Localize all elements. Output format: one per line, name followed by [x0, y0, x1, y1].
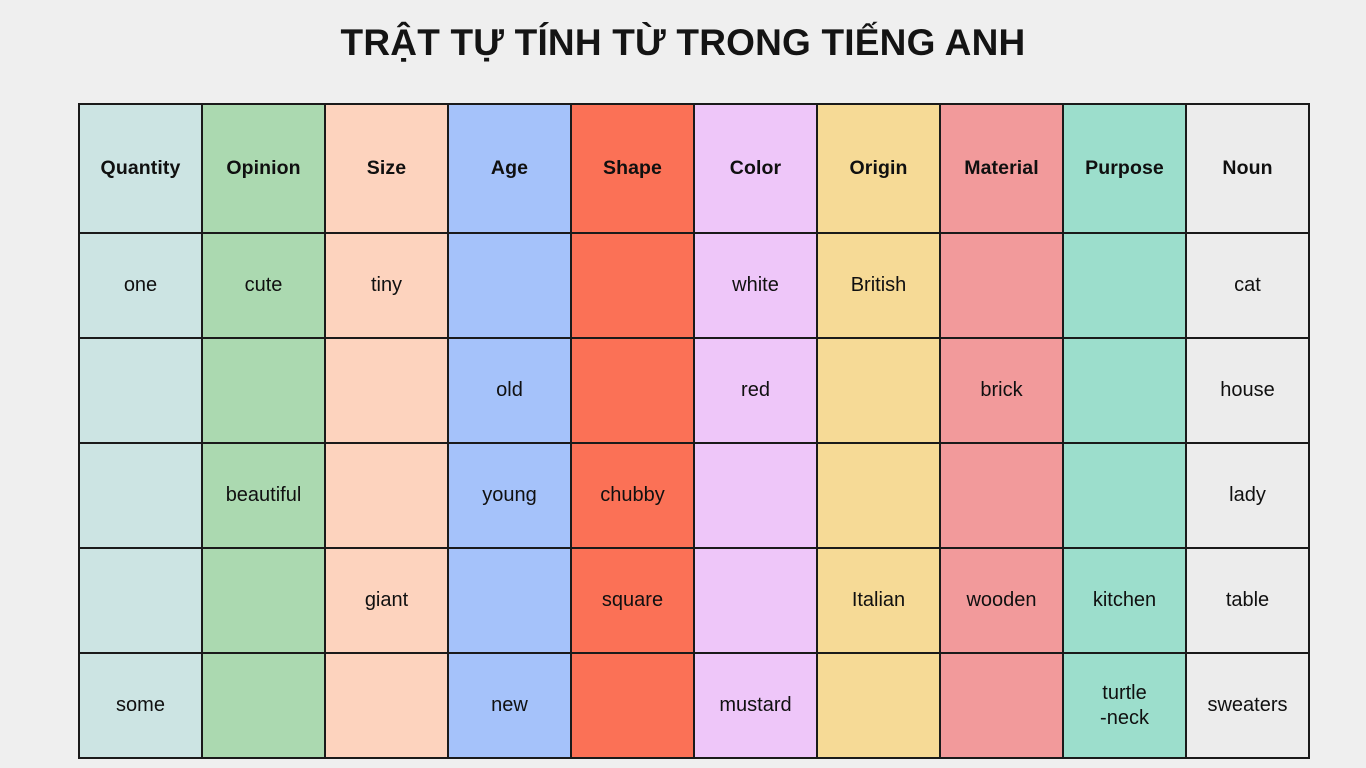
- cell-row-cat-purpose: [1063, 233, 1186, 338]
- column-header-age: Age: [448, 104, 571, 233]
- cell-row-cat-color: white: [694, 233, 817, 338]
- cell-text: house: [1187, 378, 1308, 402]
- cell-text: table: [1187, 588, 1308, 612]
- cell-row-table-opinion: [202, 548, 325, 653]
- cell-row-sweaters-quantity: some: [79, 653, 202, 758]
- cell-row-sweaters-origin: [817, 653, 940, 758]
- cell-row-lady-origin: [817, 443, 940, 548]
- cell-text: kitchen: [1064, 588, 1185, 612]
- cell-text: some: [80, 693, 201, 717]
- table-body: onecutetinywhiteBritishcatoldredbrickhou…: [79, 233, 1309, 758]
- cell-text: Italian: [818, 588, 939, 612]
- cell-row-cat-size: tiny: [325, 233, 448, 338]
- cell-row-sweaters-size: [325, 653, 448, 758]
- table-header-row: QuantityOpinionSizeAgeShapeColorOriginMa…: [79, 104, 1309, 233]
- cell-row-lady-noun: lady: [1186, 443, 1309, 548]
- cell-row-house-shape: [571, 338, 694, 443]
- cell-row-lady-age: young: [448, 443, 571, 548]
- cell-text: tiny: [326, 273, 447, 297]
- cell-row-sweaters-material: [940, 653, 1063, 758]
- cell-row-table-material: wooden: [940, 548, 1063, 653]
- cell-row-table-shape: square: [571, 548, 694, 653]
- column-header-noun: Noun: [1186, 104, 1309, 233]
- poster-page: TRẬT TỰ TÍNH TỪ TRONG TIẾNG ANH Quantity…: [0, 0, 1366, 768]
- column-header-shape: Shape: [571, 104, 694, 233]
- cell-row-table-quantity: [79, 548, 202, 653]
- adjective-order-table-wrapper: QuantityOpinionSizeAgeShapeColorOriginMa…: [78, 103, 1289, 745]
- cell-text: sweaters: [1187, 693, 1308, 717]
- column-header-purpose: Purpose: [1063, 104, 1186, 233]
- cell-row-table-purpose: kitchen: [1063, 548, 1186, 653]
- cell-text: giant: [326, 588, 447, 612]
- cell-row-house-origin: [817, 338, 940, 443]
- cell-row-sweaters-shape: [571, 653, 694, 758]
- column-header-quantity: Quantity: [79, 104, 202, 233]
- table-row: oldredbrickhouse: [79, 338, 1309, 443]
- cell-row-lady-quantity: [79, 443, 202, 548]
- cell-row-sweaters-age: new: [448, 653, 571, 758]
- cell-row-cat-shape: [571, 233, 694, 338]
- adjective-order-table: QuantityOpinionSizeAgeShapeColorOriginMa…: [78, 103, 1310, 759]
- cell-row-cat-opinion: cute: [202, 233, 325, 338]
- column-header-size: Size: [325, 104, 448, 233]
- cell-row-sweaters-color: mustard: [694, 653, 817, 758]
- cell-text: lady: [1187, 483, 1308, 507]
- cell-row-cat-quantity: one: [79, 233, 202, 338]
- table-row: somenewmustardturtle -necksweaters: [79, 653, 1309, 758]
- cell-row-table-color: [694, 548, 817, 653]
- cell-row-cat-age: [448, 233, 571, 338]
- cell-text: mustard: [695, 693, 816, 717]
- table-row: giantsquareItalianwoodenkitchentable: [79, 548, 1309, 653]
- cell-row-table-origin: Italian: [817, 548, 940, 653]
- cell-text: old: [449, 378, 570, 402]
- table-row: beautifulyoungchubbylady: [79, 443, 1309, 548]
- cell-text: cute: [203, 273, 324, 297]
- cell-text: British: [818, 273, 939, 297]
- cell-row-house-quantity: [79, 338, 202, 443]
- table-header: QuantityOpinionSizeAgeShapeColorOriginMa…: [79, 104, 1309, 233]
- cell-row-lady-material: [940, 443, 1063, 548]
- cell-row-house-age: old: [448, 338, 571, 443]
- cell-row-cat-noun: cat: [1186, 233, 1309, 338]
- cell-text: white: [695, 273, 816, 297]
- cell-text: turtle -neck: [1064, 681, 1185, 730]
- cell-text: wooden: [941, 588, 1062, 612]
- cell-text: cat: [1187, 273, 1308, 297]
- cell-row-house-purpose: [1063, 338, 1186, 443]
- table-row: onecutetinywhiteBritishcat: [79, 233, 1309, 338]
- cell-row-table-size: giant: [325, 548, 448, 653]
- cell-row-lady-color: [694, 443, 817, 548]
- cell-text: one: [80, 273, 201, 297]
- cell-row-lady-shape: chubby: [571, 443, 694, 548]
- cell-row-sweaters-purpose: turtle -neck: [1063, 653, 1186, 758]
- column-header-origin: Origin: [817, 104, 940, 233]
- cell-text: brick: [941, 378, 1062, 402]
- column-header-opinion: Opinion: [202, 104, 325, 233]
- cell-row-house-color: red: [694, 338, 817, 443]
- column-header-material: Material: [940, 104, 1063, 233]
- cell-row-lady-opinion: beautiful: [202, 443, 325, 548]
- cell-row-cat-material: [940, 233, 1063, 338]
- cell-text: new: [449, 693, 570, 717]
- cell-row-lady-purpose: [1063, 443, 1186, 548]
- cell-text: beautiful: [203, 483, 324, 507]
- cell-row-lady-size: [325, 443, 448, 548]
- cell-text: chubby: [572, 483, 693, 507]
- cell-row-sweaters-opinion: [202, 653, 325, 758]
- cell-row-table-noun: table: [1186, 548, 1309, 653]
- page-title: TRẬT TỰ TÍNH TỪ TRONG TIẾNG ANH: [0, 22, 1366, 64]
- cell-text: young: [449, 483, 570, 507]
- cell-row-house-opinion: [202, 338, 325, 443]
- cell-text: square: [572, 588, 693, 612]
- cell-row-sweaters-noun: sweaters: [1186, 653, 1309, 758]
- cell-row-house-size: [325, 338, 448, 443]
- cell-row-house-noun: house: [1186, 338, 1309, 443]
- column-header-color: Color: [694, 104, 817, 233]
- cell-text: red: [695, 378, 816, 402]
- cell-row-house-material: brick: [940, 338, 1063, 443]
- cell-row-cat-origin: British: [817, 233, 940, 338]
- cell-row-table-age: [448, 548, 571, 653]
